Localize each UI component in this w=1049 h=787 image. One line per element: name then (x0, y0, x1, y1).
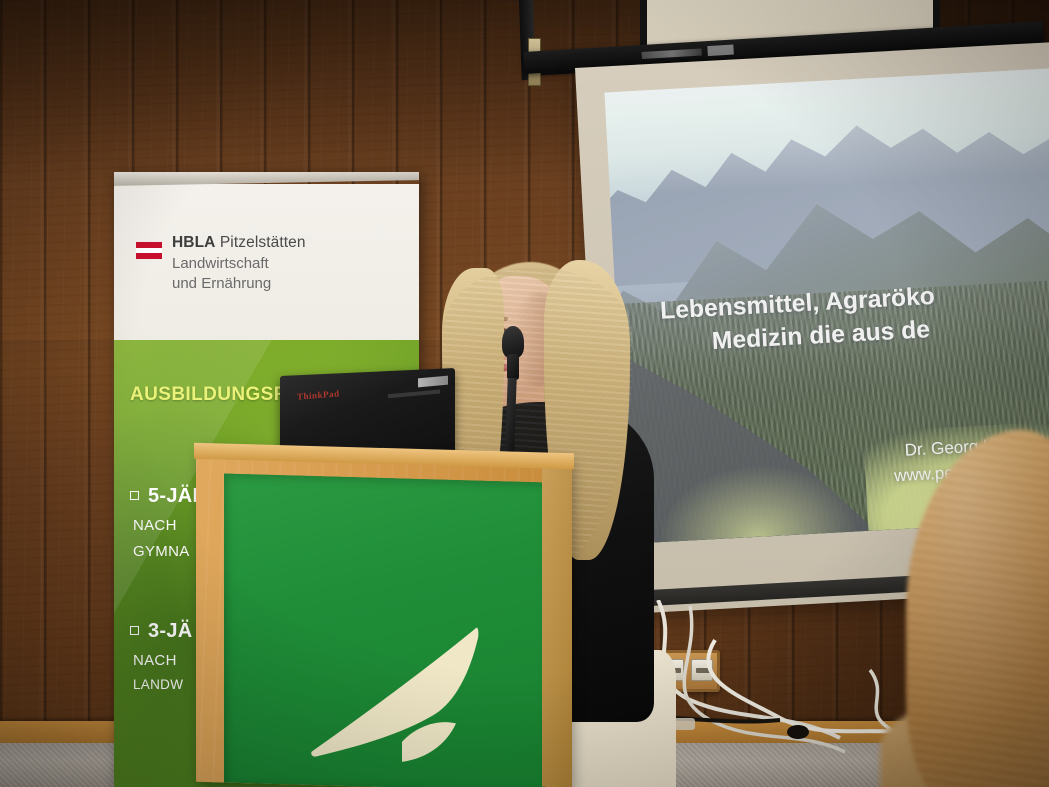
laptop-sticker-icon (418, 376, 448, 388)
lectern-right-post (542, 456, 572, 787)
screen-case-label-icon (642, 48, 702, 59)
leaf-icon (306, 619, 506, 787)
lectern-leaf-emblem (306, 619, 506, 787)
checkbox-icon (130, 626, 139, 635)
banner-subtitle-2: und Ernährung (172, 275, 412, 292)
banner-bullet-2-line1: NACH (133, 652, 193, 669)
banner-org-bold: HBLA (172, 234, 215, 251)
banner-subtitle-1: Landwirtschaft (172, 255, 412, 272)
banner-heading: AUSBILDUNGSFO (130, 384, 301, 406)
lectern (196, 452, 576, 787)
austrian-flag-icon (136, 242, 162, 259)
microphone-collar (507, 354, 519, 380)
screenshot-root: Lebensmittel, Agraröko Medizin die aus d… (0, 0, 1049, 787)
banner-bullet-2-line2: LANDW (133, 677, 193, 692)
screen-case-badge-icon (707, 45, 734, 57)
checkbox-icon (130, 491, 139, 500)
banner-bullet-2: 3-JÄ NACH LANDW (130, 620, 193, 692)
banner-org-block: HBLA Pitzelstätten Landwirtschaft und Er… (172, 234, 412, 292)
laptop-reflection (388, 390, 440, 399)
banner-org-rest: Pitzelstätten (215, 234, 305, 251)
banner-bullet-2-title: 3-JÄ (148, 620, 193, 642)
banner-org-name: HBLA Pitzelstätten (172, 234, 412, 252)
